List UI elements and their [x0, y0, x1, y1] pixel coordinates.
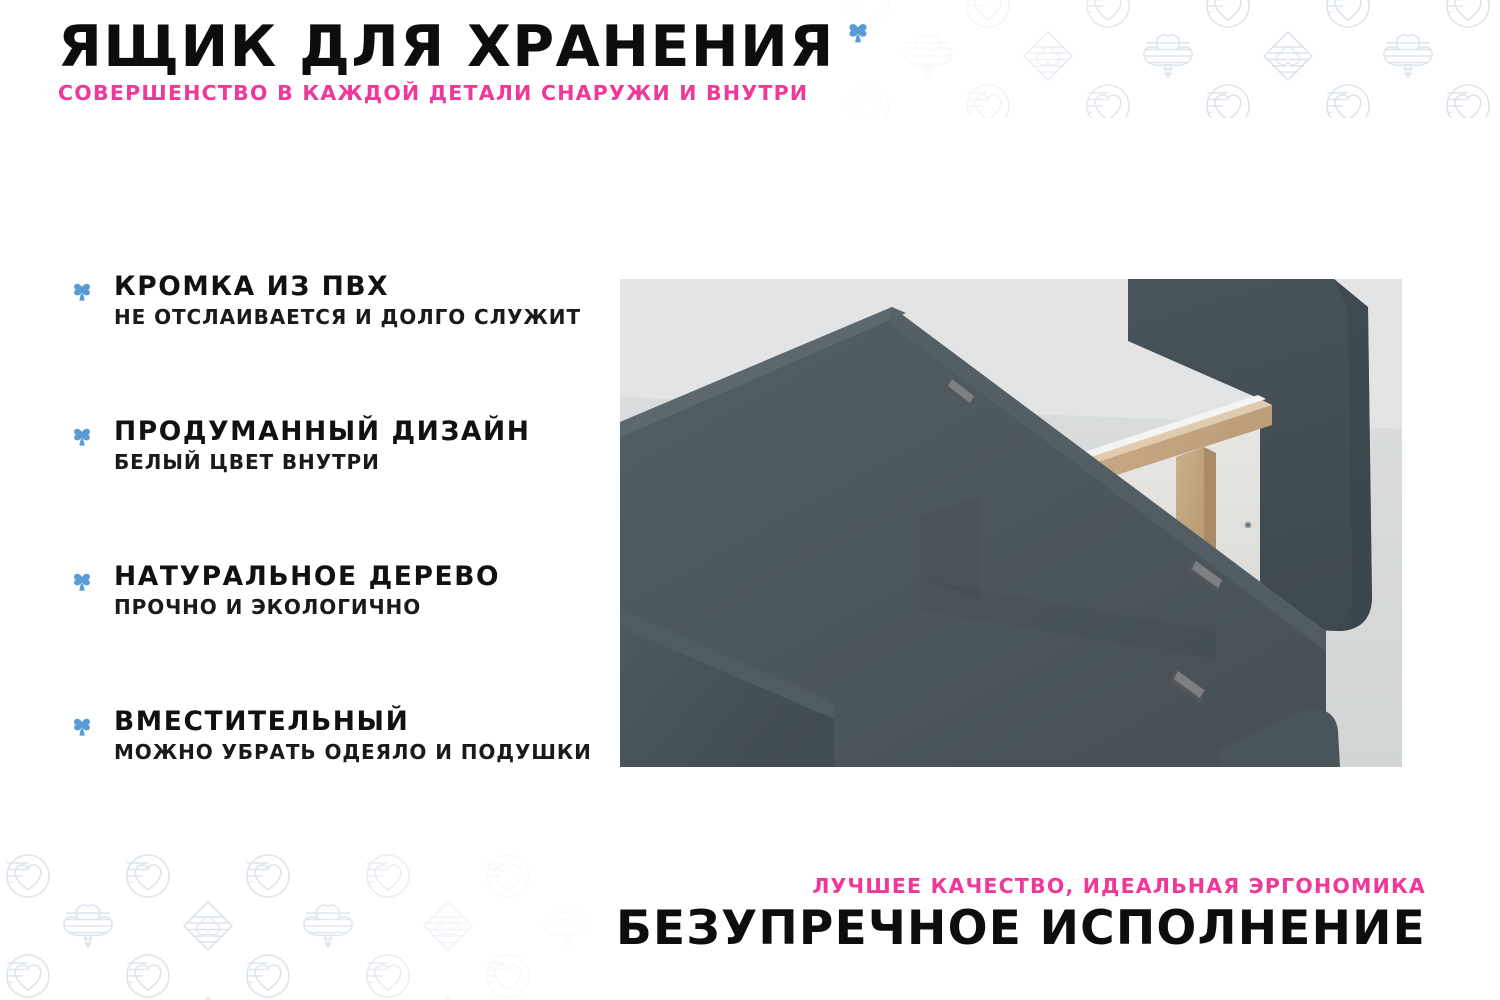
feature-title: ВМЕСТИТЕЛЬНЫЙ — [114, 707, 592, 737]
feature-subtitle: БЕЛЫЙ ЦВЕТ ВНУТРИ — [114, 450, 531, 474]
banner-headline: БЕЗУПРЕЧНОЕ ИСПОЛНЕНИЕ — [616, 902, 1426, 956]
feature-item: ВМЕСТИТЕЛЬНЫЙ МОЖНО УБРАТЬ ОДЕЯЛО И ПОДУ… — [70, 707, 610, 764]
clover-bullet-icon — [70, 715, 94, 739]
feature-subtitle: ПРОЧНО И ЭКОЛОГИЧНО — [114, 595, 500, 619]
watermark-pattern-top-right — [830, 0, 1500, 118]
title-row: ЯЩИК ДЛЯ ХРАНЕНИЯ — [58, 18, 871, 76]
banner-kicker: ЛУЧШЕЕ КАЧЕСТВО, ИДЕАЛЬНАЯ ЭРГОНОМИКА — [616, 874, 1426, 898]
feature-title: КРОМКА ИЗ ПВХ — [114, 272, 581, 302]
clover-bullet-icon — [70, 280, 94, 304]
feature-item: НАТУРАЛЬНОЕ ДЕРЕВО ПРОЧНО И ЭКОЛОГИЧНО — [70, 562, 610, 619]
clover-icon — [845, 20, 871, 51]
feature-subtitle: НЕ ОТСЛАИВАЕТСЯ И ДОЛГО СЛУЖИТ — [114, 305, 581, 329]
clover-bullet-icon — [70, 570, 94, 594]
page-title: ЯЩИК ДЛЯ ХРАНЕНИЯ — [58, 18, 835, 76]
bottom-banner: ЛУЧШЕЕ КАЧЕСТВО, ИДЕАЛЬНАЯ ЭРГОНОМИКА БЕ… — [616, 874, 1426, 956]
feature-subtitle: МОЖНО УБРАТЬ ОДЕЯЛО И ПОДУШКИ — [114, 740, 592, 764]
feature-item: ПРОДУМАННЫЙ ДИЗАЙН БЕЛЫЙ ЦВЕТ ВНУТРИ — [70, 417, 610, 474]
clover-bullet-icon — [70, 425, 94, 449]
feature-title: НАТУРАЛЬНОЕ ДЕРЕВО — [114, 562, 500, 592]
watermark-pattern-bottom-left — [0, 854, 608, 1000]
infographic-canvas: ЯЩИК ДЛЯ ХРАНЕНИЯ СОВЕРШЕНСТВО В КАЖДОЙ … — [0, 0, 1500, 1000]
feature-title: ПРОДУМАННЫЙ ДИЗАЙН — [114, 417, 531, 447]
header-block: ЯЩИК ДЛЯ ХРАНЕНИЯ СОВЕРШЕНСТВО В КАЖДОЙ … — [58, 18, 871, 105]
product-photo — [620, 279, 1402, 767]
page-subtitle: СОВЕРШЕНСТВО В КАЖДОЙ ДЕТАЛИ СНАРУЖИ И В… — [58, 81, 871, 105]
feature-item: КРОМКА ИЗ ПВХ НЕ ОТСЛАИВАЕТСЯ И ДОЛГО СЛ… — [70, 272, 610, 329]
feature-list: КРОМКА ИЗ ПВХ НЕ ОТСЛАИВАЕТСЯ И ДОЛГО СЛ… — [70, 272, 610, 764]
